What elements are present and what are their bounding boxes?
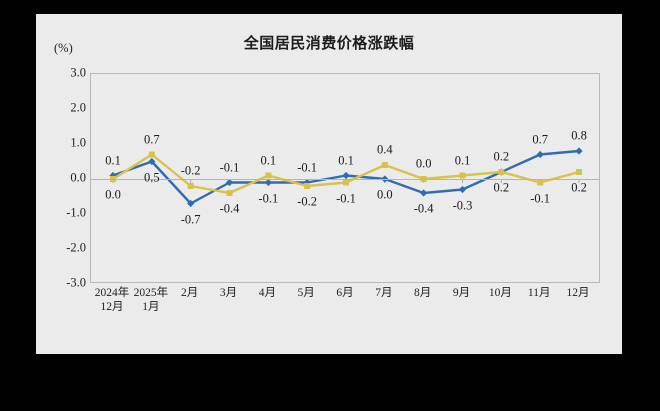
- x-axis-tick-label: 11月: [528, 286, 551, 300]
- data-point-label: 0.0: [416, 157, 432, 172]
- data-point-label: 0.0: [377, 188, 393, 203]
- x-axis-tick-label: 6月: [336, 286, 353, 300]
- data-point-label: 0.2: [494, 150, 510, 165]
- x-axis-tick-label: 4月: [259, 286, 276, 300]
- data-point-marker: [459, 186, 466, 193]
- y-axis-tick-label: -2.0: [46, 241, 86, 256]
- data-point-label: -0.3: [453, 198, 473, 213]
- x-axis-tick-label: 2024年12月: [95, 286, 130, 314]
- y-axis-tick-label: 0.0: [46, 171, 86, 186]
- data-point-label: 0.1: [338, 153, 354, 168]
- data-point-label: -0.4: [220, 202, 240, 217]
- chart-panel: 全国居民消费价格涨跌幅 (%) 同比环比 3.02.01.00.0-1.0-2.…: [36, 14, 622, 354]
- data-point-marker: [420, 189, 427, 196]
- y-axis-tick-label: -3.0: [46, 276, 86, 291]
- x-axis-tick-label: 3月: [220, 286, 237, 300]
- data-point-label: -0.1: [258, 191, 278, 206]
- y-axis-tick-label: -1.0: [46, 206, 86, 221]
- data-point-marker: [576, 169, 582, 175]
- data-point-marker: [498, 169, 504, 175]
- data-point-marker: [575, 147, 582, 154]
- data-point-label: 0.0: [105, 188, 121, 203]
- data-point-label: -0.2: [181, 164, 201, 179]
- x-axis-tick-label: 7月: [375, 286, 392, 300]
- data-point-label: 0.7: [532, 132, 548, 147]
- x-axis-tick-label: 5月: [298, 286, 315, 300]
- x-axis-tick-label: 10月: [489, 286, 512, 300]
- data-point-label: 0.1: [261, 153, 277, 168]
- data-point-label: 0.7: [144, 132, 160, 147]
- data-point-marker: [304, 183, 310, 189]
- data-point-marker: [265, 173, 271, 179]
- data-point-label: -0.1: [220, 160, 240, 175]
- data-point-label: 0.5: [144, 170, 160, 185]
- x-axis-tick-label: 2月: [181, 286, 198, 300]
- y-axis-ticks: 3.02.01.00.0-1.0-2.0-3.0: [40, 73, 86, 283]
- data-point-marker: [188, 183, 194, 189]
- data-point-label: -0.1: [297, 160, 317, 175]
- data-point-label: 0.4: [377, 143, 393, 158]
- y-axis-tick-label: 1.0: [46, 136, 86, 151]
- data-point-label: -0.1: [336, 191, 356, 206]
- plot-area: 0.10.5-0.7-0.1-0.1-0.10.10.0-0.4-0.30.20…: [90, 73, 600, 283]
- data-point-marker: [537, 180, 543, 186]
- data-point-marker: [460, 173, 466, 179]
- x-axis-tick-label: 8月: [414, 286, 431, 300]
- y-axis-tick-label: 2.0: [46, 101, 86, 116]
- x-axis-tick-label: 9月: [453, 286, 470, 300]
- zero-baseline: [91, 179, 599, 180]
- data-point-label: -0.1: [530, 191, 550, 206]
- x-axis-tick-label: 12月: [567, 286, 590, 300]
- data-point-marker: [537, 151, 544, 158]
- data-point-label: 0.8: [571, 129, 587, 144]
- data-point-label: 0.2: [571, 181, 587, 196]
- data-point-label: 0.1: [455, 153, 471, 168]
- page-title: 全国居民消费价格涨跌幅: [36, 32, 622, 53]
- data-point-label: -0.7: [181, 212, 201, 227]
- y-axis-unit-label: (%): [54, 41, 73, 56]
- data-point-marker: [343, 180, 349, 186]
- data-point-marker: [227, 190, 233, 196]
- data-point-label: 0.1: [105, 153, 121, 168]
- data-point-label: -0.4: [414, 202, 434, 217]
- y-axis-tick-label: 3.0: [46, 66, 86, 81]
- data-point-label: 0.2: [494, 181, 510, 196]
- screenshot-root: 全国居民消费价格涨跌幅 (%) 同比环比 3.02.01.00.0-1.0-2.…: [0, 0, 660, 411]
- data-point-marker: [382, 162, 388, 168]
- x-axis-tick-label: 2025年1月: [134, 286, 169, 314]
- data-point-label: -0.2: [297, 195, 317, 210]
- data-point-marker: [149, 152, 155, 158]
